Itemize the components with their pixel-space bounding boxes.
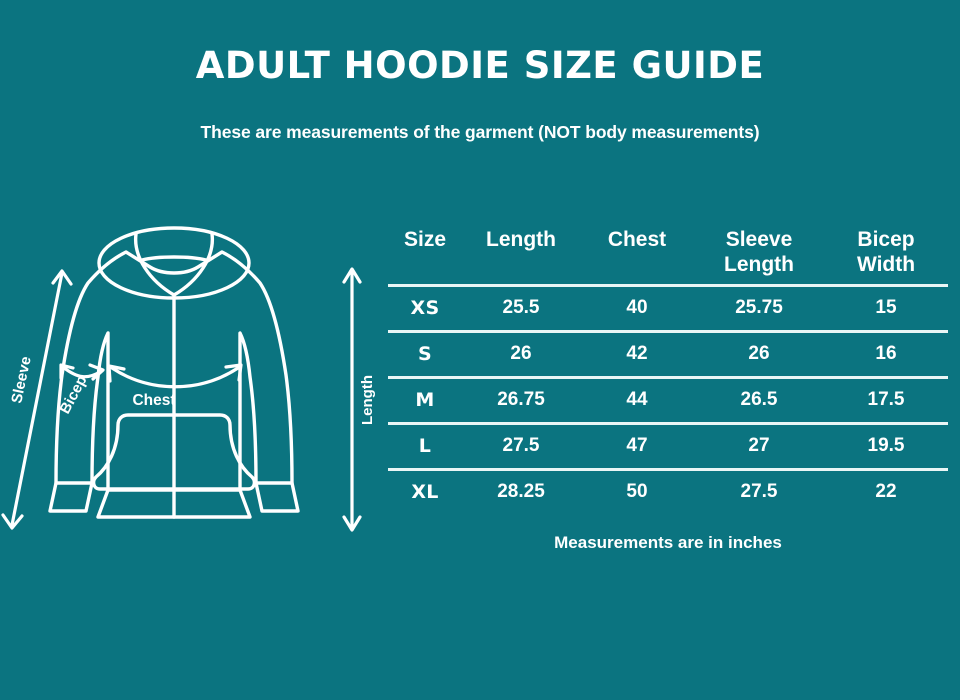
cell-chest: 44: [580, 377, 694, 423]
table-head: Size Length Chest Sleeve Length Bicep Wi: [388, 228, 948, 285]
cell-bicep-width: 15: [824, 285, 948, 331]
length-label: Length: [359, 375, 376, 425]
cell-chest: 47: [580, 423, 694, 469]
sleeve-label: Sleeve: [8, 355, 35, 405]
size-guide-page: ADULT HOODIE SIZE GUIDE These are measur…: [0, 0, 960, 700]
column-header-bicep-width-line1: Bicep: [824, 228, 948, 253]
column-header-bicep-width-line2: Width: [824, 253, 948, 278]
hoodie-diagram: Sleeve Bicep Chest Length: [0, 205, 390, 550]
measurement-units-note: Measurements are in inches: [388, 533, 948, 553]
column-header-length: Length: [462, 228, 580, 285]
size-table-wrapper: Size Length Chest Sleeve Length Bicep Wi: [388, 228, 948, 514]
cell-size: L: [388, 423, 462, 469]
hood-ellipse: [99, 228, 249, 298]
column-header-bicep-width: Bicep Width: [824, 228, 948, 285]
cell-size: M: [388, 377, 462, 423]
table-row: XS 25.5 40 25.75 15: [388, 285, 948, 331]
column-header-size: Size: [388, 228, 462, 285]
cell-bicep-width: 19.5: [824, 423, 948, 469]
column-header-sleeve-length-line1: Sleeve: [694, 228, 824, 253]
cell-size: XL: [388, 469, 462, 514]
cell-size: XS: [388, 285, 462, 331]
column-header-sleeve-length: Sleeve Length: [694, 228, 824, 285]
cell-sleeve-length: 27.5: [694, 469, 824, 514]
table-row: S 26 42 26 16: [388, 331, 948, 377]
cell-sleeve-length: 26.5: [694, 377, 824, 423]
cell-sleeve-length: 25.75: [694, 285, 824, 331]
column-header-chest-line1: Chest: [580, 228, 694, 253]
cell-chest: 50: [580, 469, 694, 514]
length-measure-arrow-icon: [344, 269, 360, 530]
table-row: L 27.5 47 27 19.5: [388, 423, 948, 469]
column-header-sleeve-length-line2: Length: [694, 253, 824, 278]
page-title: ADULT HOODIE SIZE GUIDE: [0, 46, 960, 87]
column-header-length-line1: Length: [462, 228, 580, 253]
cell-chest: 40: [580, 285, 694, 331]
chest-label: Chest: [132, 392, 175, 409]
table-body: XS 25.5 40 25.75 15 S 26 42 26 16 M 26.7…: [388, 285, 948, 514]
hoodie-outline-icon: [50, 228, 298, 517]
cell-length: 27.5: [462, 423, 580, 469]
cell-chest: 42: [580, 331, 694, 377]
right-cuff: [256, 483, 298, 511]
cell-length: 25.5: [462, 285, 580, 331]
table-row: XL 28.25 50 27.5 22: [388, 469, 948, 514]
hood-inner-line: [142, 257, 206, 260]
page-subtitle: These are measurements of the garment (N…: [0, 122, 960, 143]
size-table: Size Length Chest Sleeve Length Bicep Wi: [388, 228, 948, 514]
table-row: M 26.75 44 26.5 17.5: [388, 377, 948, 423]
cell-sleeve-length: 26: [694, 331, 824, 377]
cell-length: 26: [462, 331, 580, 377]
cell-bicep-width: 22: [824, 469, 948, 514]
cell-sleeve-length: 27: [694, 423, 824, 469]
column-header-size-line1: Size: [388, 228, 462, 253]
cell-length: 26.75: [462, 377, 580, 423]
cell-bicep-width: 16: [824, 331, 948, 377]
cell-bicep-width: 17.5: [824, 377, 948, 423]
cell-length: 28.25: [462, 469, 580, 514]
table-header-row: Size Length Chest Sleeve Length Bicep Wi: [388, 228, 948, 285]
column-header-chest: Chest: [580, 228, 694, 285]
cell-size: S: [388, 331, 462, 377]
left-cuff: [50, 483, 92, 511]
